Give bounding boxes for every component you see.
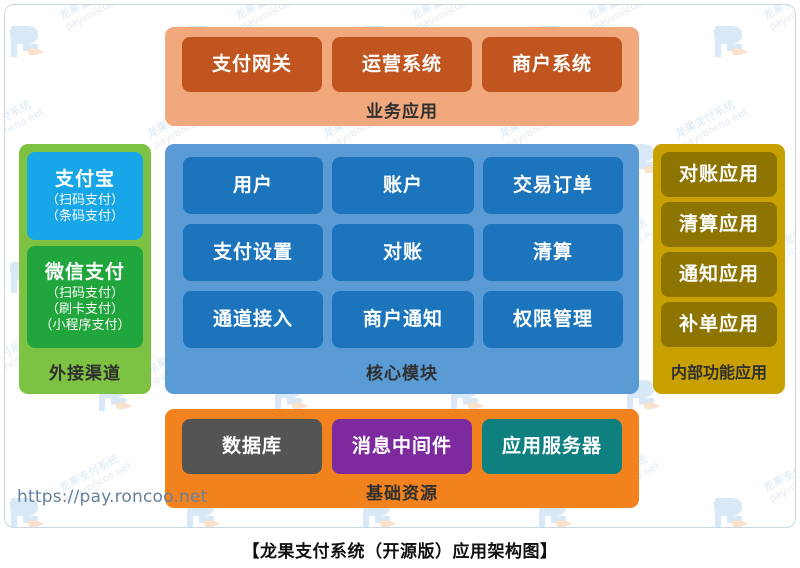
external-channel-panel: 支付宝 （扫码支付） （条码支付） 微信支付 （扫码支付） （刷卡支付） （小程… [19, 144, 151, 394]
box-account-label: 账户 [383, 174, 423, 198]
box-settlement-app[interactable]: 清算应用 [661, 202, 777, 247]
box-transaction-order[interactable]: 交易订单 [483, 157, 623, 214]
box-settlement[interactable]: 清算 [483, 224, 623, 281]
box-user-label: 用户 [233, 174, 273, 198]
box-transaction-order-label: 交易订单 [513, 174, 593, 198]
box-permission-management[interactable]: 权限管理 [483, 291, 623, 348]
internal-function-panel-label: 内部功能应用 [653, 359, 785, 383]
diagram-caption: 【龙果支付系统（开源版）应用架构图】 [0, 537, 800, 562]
box-payment-settings-label: 支付设置 [213, 241, 293, 265]
box-wechat-pay[interactable]: 微信支付 （扫码支付） （刷卡支付） （小程序支付） [27, 246, 143, 348]
box-wechat-sub-card: （刷卡支付） [46, 301, 124, 317]
box-application-server-label: 应用服务器 [502, 435, 602, 459]
diagram-content: 支付网关 运营系统 商户系统 业务应用 支付宝 （扫码支付） （条码支付） [5, 5, 796, 528]
box-wechat-sub-miniprogram: （小程序支付） [39, 317, 130, 333]
box-channel-access[interactable]: 通道接入 [183, 291, 323, 348]
box-reconciliation-app[interactable]: 对账应用 [661, 152, 777, 197]
business-application-panel: 支付网关 运营系统 商户系统 业务应用 [165, 27, 639, 126]
box-alipay-sub-barcode: （条码支付） [46, 208, 124, 224]
diagram-frame: 龙果支付系统pay.roncoo.net龙果支付系统pay.roncoo.net… [4, 4, 796, 528]
box-wechat-pay-label: 微信支付 [45, 261, 125, 285]
architecture-diagram-page: 龙果支付系统pay.roncoo.net龙果支付系统pay.roncoo.net… [0, 0, 800, 568]
box-merchant-notification[interactable]: 商户通知 [332, 291, 474, 348]
box-channel-access-label: 通道接入 [213, 308, 293, 332]
base-resource-panel-label: 基础资源 [165, 479, 639, 504]
box-message-middleware-label: 消息中间件 [352, 435, 452, 459]
box-payment-settings[interactable]: 支付设置 [183, 224, 323, 281]
box-supplement-order-app[interactable]: 补单应用 [661, 302, 777, 347]
box-alipay-sub-qrcode: （扫码支付） [46, 192, 124, 208]
box-message-middleware[interactable]: 消息中间件 [332, 419, 472, 474]
site-url-text: https://pay.roncoo.net [17, 487, 208, 507]
box-permission-management-label: 权限管理 [513, 308, 593, 332]
box-payment-gateway[interactable]: 支付网关 [182, 37, 322, 92]
box-user[interactable]: 用户 [183, 157, 323, 214]
box-alipay[interactable]: 支付宝 （扫码支付） （条码支付） [27, 152, 143, 240]
box-merchant-system-label: 商户系统 [512, 53, 592, 77]
box-operation-system[interactable]: 运营系统 [332, 37, 472, 92]
box-notification-app[interactable]: 通知应用 [661, 252, 777, 297]
box-operation-system-label: 运营系统 [362, 53, 442, 77]
box-database[interactable]: 数据库 [182, 419, 322, 474]
base-resource-panel: 数据库 消息中间件 应用服务器 基础资源 [165, 409, 639, 508]
business-application-panel-label: 业务应用 [165, 97, 639, 122]
box-reconciliation[interactable]: 对账 [332, 224, 474, 281]
box-notification-app-label: 通知应用 [679, 263, 759, 287]
box-application-server[interactable]: 应用服务器 [482, 419, 622, 474]
external-channel-panel-label: 外接渠道 [19, 359, 151, 384]
box-payment-gateway-label: 支付网关 [212, 53, 292, 77]
box-settlement-app-label: 清算应用 [679, 213, 759, 237]
box-wechat-sub-qrcode: （扫码支付） [46, 285, 124, 301]
box-reconciliation-app-label: 对账应用 [679, 163, 759, 187]
box-alipay-label: 支付宝 [55, 168, 115, 192]
box-settlement-label: 清算 [533, 241, 573, 265]
internal-function-panel: 对账应用 清算应用 通知应用 补单应用 内部功能应用 [653, 144, 785, 394]
box-merchant-system[interactable]: 商户系统 [482, 37, 622, 92]
box-merchant-notification-label: 商户通知 [363, 308, 443, 332]
box-account[interactable]: 账户 [332, 157, 474, 214]
core-module-panel: 用户 账户 交易订单 支付设置 对账 清算 通道接入 [165, 144, 639, 394]
box-database-label: 数据库 [222, 435, 282, 459]
box-supplement-order-app-label: 补单应用 [679, 313, 759, 337]
core-module-panel-label: 核心模块 [165, 359, 639, 384]
box-reconciliation-label: 对账 [383, 241, 423, 265]
